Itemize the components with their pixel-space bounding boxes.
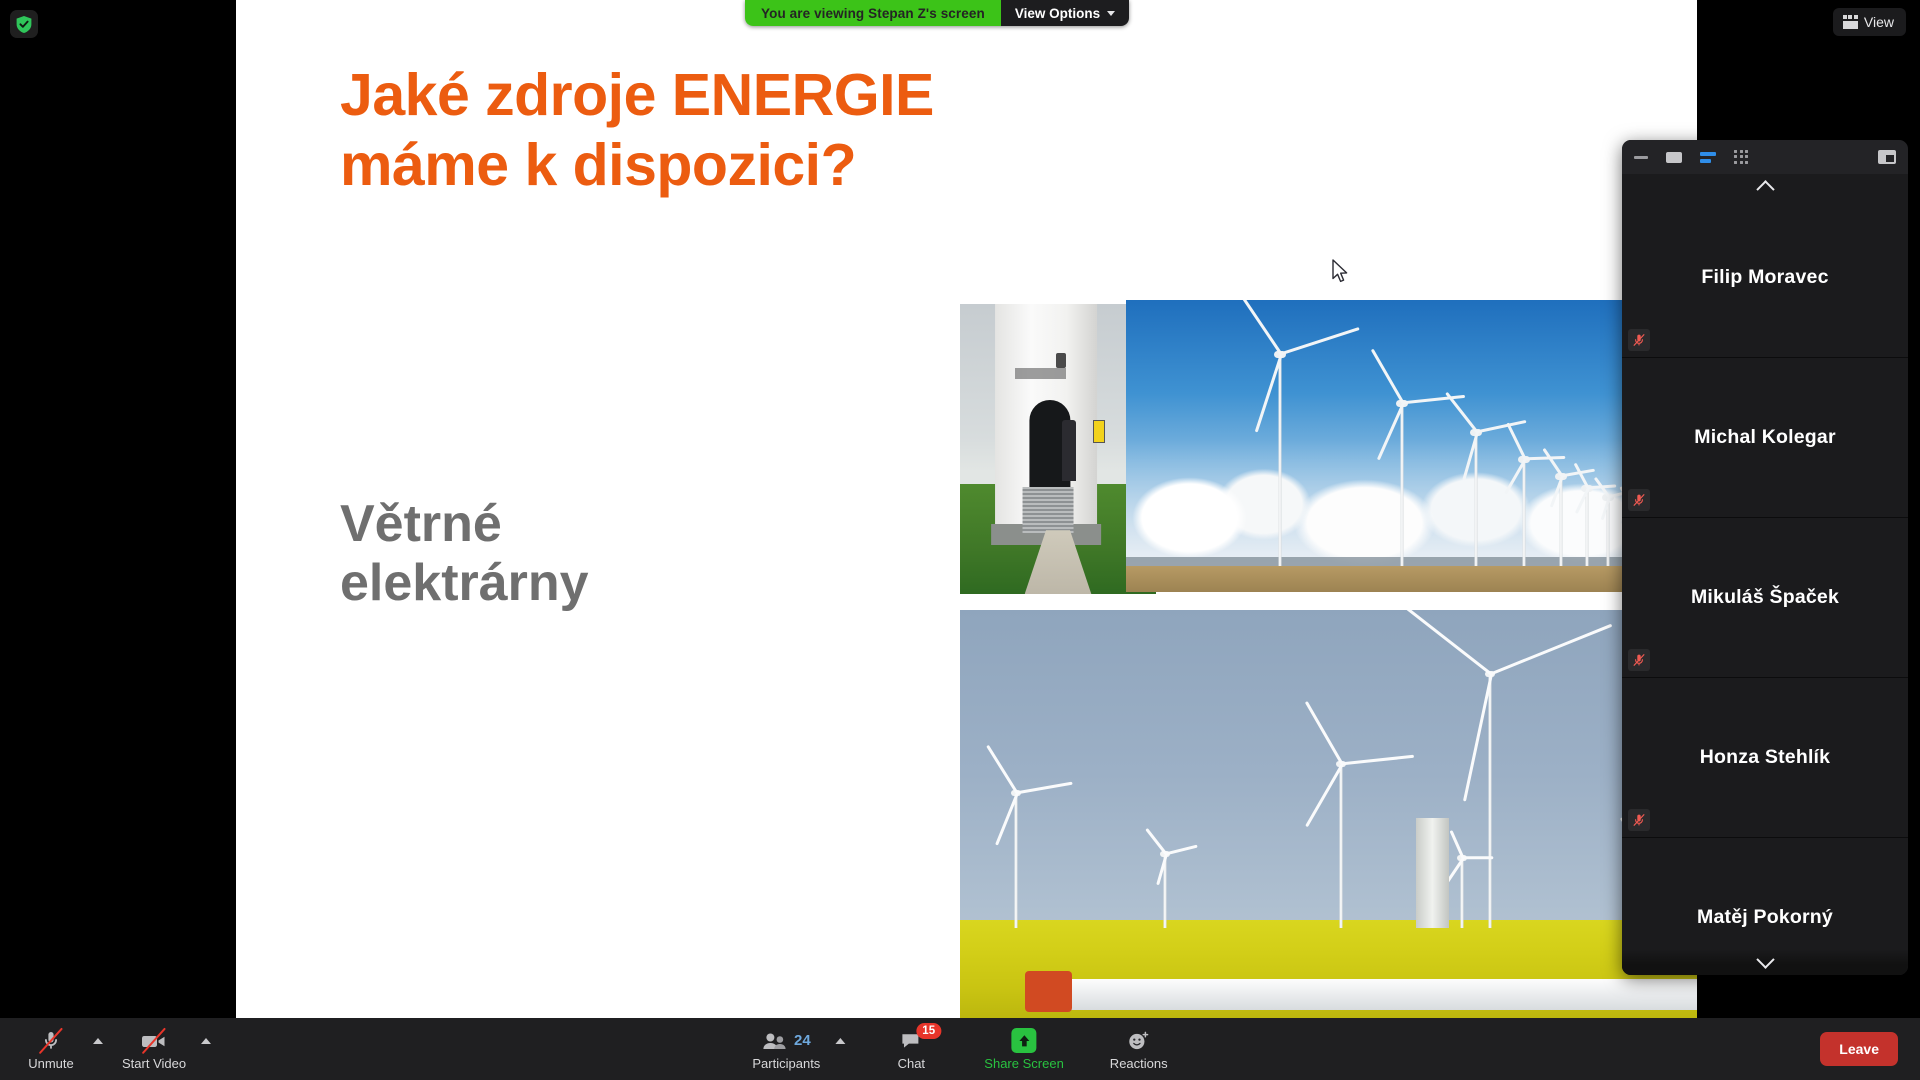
participant-name: Mikuláš Špaček	[1691, 586, 1839, 609]
security-shield-button[interactable]	[10, 10, 38, 38]
minimize-icon[interactable]	[1634, 156, 1648, 159]
audio-options-caret[interactable]	[88, 1038, 112, 1060]
viewing-screen-label: You are viewing Stepan Z's screen	[745, 0, 1001, 26]
start-video-button[interactable]: Start Video	[112, 1026, 196, 1073]
single-view-icon[interactable]	[1666, 152, 1682, 163]
microphone-muted-icon	[1628, 809, 1650, 831]
chat-label: Chat	[898, 1056, 925, 1071]
participant-tile[interactable]: Honza Stehlík	[1622, 678, 1908, 838]
microphone-muted-icon	[1628, 329, 1650, 351]
shared-screen-slide: Jaké zdroje ENERGIE máme k dispozici? Vě…	[236, 0, 1697, 1018]
meeting-control-bar: Unmute Start Video	[0, 1018, 1920, 1080]
camera-off-icon	[140, 1029, 168, 1053]
panel-header-toolbar	[1622, 140, 1908, 174]
active-speaker-view-icon[interactable]	[1700, 151, 1716, 164]
share-screen-arrow-icon	[1012, 1029, 1037, 1053]
participant-name: Matěj Pokorný	[1697, 906, 1833, 929]
view-button-label: View	[1864, 14, 1894, 30]
view-options-label: View Options	[1015, 6, 1100, 21]
participants-icon: 24	[762, 1029, 811, 1053]
microphone-muted-icon	[1628, 649, 1650, 671]
picture-in-picture-icon[interactable]	[1878, 150, 1896, 164]
scroll-up-button[interactable]	[1622, 174, 1908, 198]
slide-title-line-1: Jaké zdroje ENERGIE	[340, 60, 1240, 130]
microphone-muted-icon	[40, 1029, 62, 1053]
participant-name: Michal Kolegar	[1694, 426, 1836, 449]
video-options-caret[interactable]	[196, 1038, 220, 1060]
chat-unread-badge: 15	[916, 1023, 941, 1039]
participant-tile[interactable]: Filip Moravec	[1622, 198, 1908, 358]
zoom-meeting-window: View Jaké zdroje ENERGIE máme k dispozic…	[0, 0, 1920, 1080]
participant-tile[interactable]: Michal Kolegar	[1622, 358, 1908, 518]
chevron-up-icon	[93, 1038, 103, 1044]
participants-options-caret[interactable]	[830, 1038, 854, 1060]
leave-button[interactable]: Leave	[1820, 1032, 1898, 1066]
video-participants-panel: Filip Moravec Michal Kolegar Mikuláš Špa…	[1622, 140, 1908, 975]
wind-farm-construction-photo	[960, 610, 1697, 1018]
participant-video-list: Filip Moravec Michal Kolegar Mikuláš Špa…	[1622, 198, 1908, 975]
participant-name: Honza Stehlík	[1700, 746, 1830, 769]
chevron-up-icon	[1756, 180, 1774, 198]
microphone-muted-icon	[1628, 489, 1650, 511]
slide-subtitle-line-1: Větrné	[340, 495, 770, 554]
share-screen-button[interactable]: Share Screen	[974, 1026, 1074, 1073]
view-options-button[interactable]: View Options	[1001, 0, 1129, 26]
slide-subtitle-line-2: elektrárny	[340, 554, 770, 613]
chat-bubble-icon: 15	[900, 1029, 922, 1053]
slide-title-line-2: máme k dispozici?	[340, 130, 1240, 200]
unmute-button[interactable]: Unmute	[14, 1026, 88, 1073]
chat-button[interactable]: 15 Chat	[874, 1026, 948, 1073]
chevron-up-icon	[201, 1038, 211, 1044]
reactions-button[interactable]: Reactions	[1100, 1026, 1178, 1073]
participant-name: Filip Moravec	[1701, 266, 1828, 289]
mouse-pointer	[1332, 259, 1349, 289]
slide-subtitle: Větrné elektrárny	[340, 495, 770, 613]
participant-tile[interactable]: Mikuláš Špaček	[1622, 518, 1908, 678]
unmute-label: Unmute	[28, 1056, 74, 1071]
participants-button[interactable]: 24 Participants	[742, 1026, 830, 1073]
reactions-label: Reactions	[1110, 1056, 1168, 1071]
share-screen-label: Share Screen	[984, 1056, 1064, 1071]
view-layout-button[interactable]: View	[1833, 8, 1906, 36]
participants-count: 24	[794, 1032, 811, 1049]
screen-share-banner: You are viewing Stepan Z's screen View O…	[745, 0, 1129, 26]
chevron-down-icon	[1107, 11, 1115, 16]
chevron-down-icon	[1756, 950, 1774, 968]
layout-grid-icon	[1843, 15, 1858, 29]
chevron-up-icon	[835, 1038, 845, 1044]
shield-check-icon	[15, 15, 33, 34]
scroll-down-button[interactable]	[1622, 949, 1908, 975]
participants-label: Participants	[752, 1056, 820, 1071]
slide-title: Jaké zdroje ENERGIE máme k dispozici?	[340, 60, 1240, 200]
gallery-view-icon[interactable]	[1734, 150, 1749, 165]
wind-farm-row-photo	[1126, 300, 1656, 592]
reactions-smiley-icon	[1127, 1029, 1151, 1053]
start-video-label: Start Video	[122, 1056, 186, 1071]
